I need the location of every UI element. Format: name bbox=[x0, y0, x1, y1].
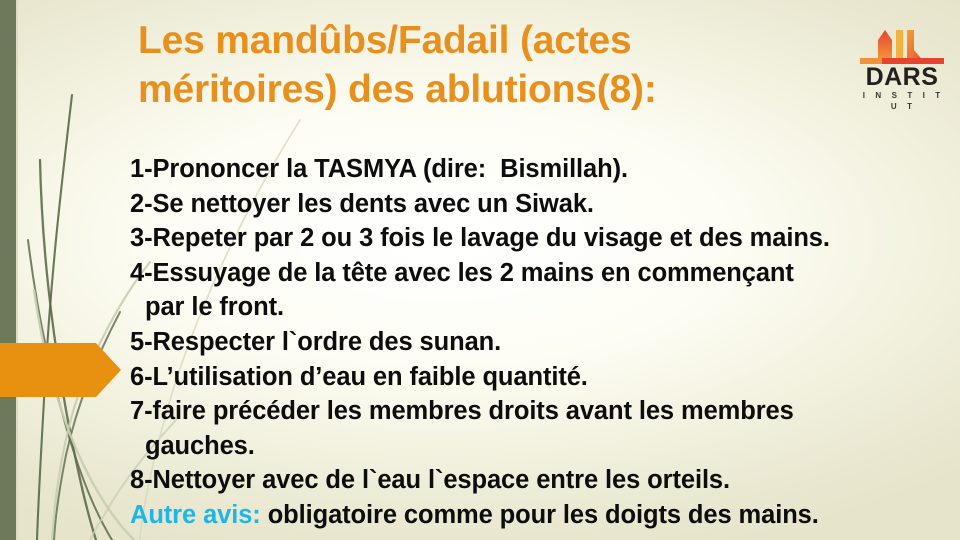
list-item: 2-Se nettoyer les dents avec un Siwak. bbox=[130, 187, 942, 222]
list-item-continuation: gauches. bbox=[130, 429, 942, 464]
list-item: 8-Nettoyer avec de l`eau l`espace entre … bbox=[130, 463, 942, 498]
footnote-label: Autre avis: bbox=[130, 501, 261, 529]
orange-arrow-banner bbox=[0, 343, 121, 397]
title-line-1: Les mandûbs/Fadail (actes bbox=[138, 16, 798, 65]
logo-wordmark: DARS bbox=[852, 65, 952, 90]
dars-institut-logo: DARS I N S T I T U T bbox=[852, 24, 952, 106]
list-item-continuation: par le front. bbox=[130, 290, 942, 325]
list-item: 7-faire précéder les membres droits avan… bbox=[130, 394, 942, 429]
left-accent-bar bbox=[0, 0, 16, 540]
logo-mark-icon bbox=[852, 24, 952, 66]
footnote-text: obligatoire comme pour les doigts des ma… bbox=[261, 501, 819, 529]
footnote-line: Autre avis: obligatoire comme pour les d… bbox=[130, 498, 942, 533]
list-item: 5-Respecter l`ordre des sunan. bbox=[130, 325, 942, 360]
list-item: 1-Prononcer la TASMYA (dire: Bismillah). bbox=[130, 152, 942, 187]
list-item: 3-Repeter par 2 ou 3 fois le lavage du v… bbox=[130, 221, 942, 256]
slide-canvas: Les mandûbs/Fadail (actes méritoires) de… bbox=[0, 0, 960, 540]
list-item: 4-Essuyage de la tête avec les 2 mains e… bbox=[130, 256, 942, 291]
page-title: Les mandûbs/Fadail (actes méritoires) de… bbox=[138, 16, 798, 114]
title-line-2: méritoires) des ablutions(8): bbox=[138, 65, 798, 114]
left-accent-bar-highlight bbox=[16, 0, 18, 540]
content-list: 1-Prononcer la TASMYA (dire: Bismillah).… bbox=[130, 152, 942, 533]
list-item: 6-L’utilisation d’eau en faible quantité… bbox=[130, 360, 942, 395]
logo-subtitle: I N S T I T U T bbox=[855, 90, 952, 112]
